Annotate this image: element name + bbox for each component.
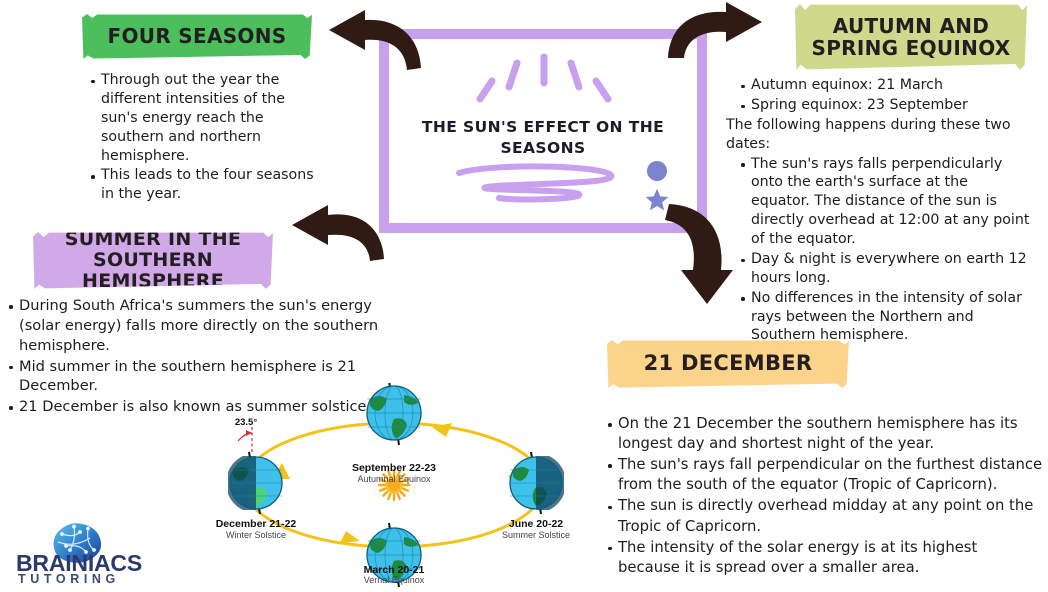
seasons-orbit-diagram: September 22-23 Autumnal Equinox June 20 — [216, 383, 572, 588]
list-item: This leads to the four seasons in the ye… — [88, 166, 318, 204]
logo-tagline: TUTORING — [18, 572, 184, 586]
list-item: No differences in the intensity of solar… — [738, 289, 1030, 346]
text-equinox: Autumn equinox: 21 March Spring equinox:… — [726, 76, 1030, 346]
banner-equinox: AUTUMN AND SPRING EQUINOX — [795, 4, 1027, 70]
list-item: The intensity of the solar energy is at … — [605, 538, 1043, 578]
heading-summer-southern: SUMMER IN THE SOUTHERN HEMISPHERE — [33, 229, 273, 293]
list-item: The sun is directly overhead midday at a… — [605, 496, 1043, 536]
heading-december: 21 DECEMBER — [644, 352, 813, 376]
list-item: Autumn equinox: 21 March — [738, 76, 1030, 95]
orbit-svg: September 22-23 Autumnal Equinox June 20 — [216, 383, 572, 588]
list-december: On the 21 December the southern hemisphe… — [605, 414, 1043, 578]
list-four-seasons: Through out the year the different inten… — [88, 71, 318, 204]
tilt-angle-marker — [238, 427, 252, 452]
globe-december — [228, 452, 282, 514]
globe-september-event: Autumnal Equinox — [357, 474, 431, 484]
brand-logo: BRAINIACS TUTORING — [16, 524, 182, 584]
list-item: On the 21 December the southern hemisphe… — [605, 414, 1043, 454]
banner-december: 21 DECEMBER — [607, 340, 849, 388]
banner-summer-southern: SUMMER IN THE SOUTHERN HEMISPHERE — [33, 232, 273, 289]
globe-december-date: December 21-22 — [216, 518, 296, 530]
globe-december-event: Winter Solstice — [226, 530, 286, 540]
globe-september — [367, 383, 421, 445]
heading-four-seasons: FOUR SEASONS — [108, 25, 287, 47]
globe-march-event: Vernal Equinox — [364, 575, 425, 585]
list-item: Spring equinox: 23 September — [738, 96, 1030, 115]
globe-september-date: September 22-23 — [352, 462, 436, 474]
globe-june-date: June 20-22 — [509, 518, 563, 530]
banner-four-seasons: FOUR SEASONS — [82, 14, 312, 59]
arrow-to-equinox — [664, 0, 774, 62]
orbit-arrow-bottom — [340, 531, 360, 543]
decorative-dot-icon — [647, 161, 667, 181]
list-equinox-dates: Autumn equinox: 21 March Spring equinox:… — [726, 76, 1030, 115]
sunburst-icon — [459, 51, 629, 113]
list-item: Day & night is everywhere on earth 12 ho… — [738, 250, 1030, 288]
heading-equinox: AUTUMN AND SPRING EQUINOX — [795, 15, 1027, 60]
center-card-title: THE SUN'S EFFECT ON THE SEASONS — [389, 117, 697, 159]
infographic-canvas: FOUR SEASONS Through out the year the di… — [0, 0, 1048, 588]
tilt-angle-label: 23.5° — [235, 417, 257, 428]
equinox-intro: The following happens during these two d… — [726, 116, 1030, 154]
globe-june-event: Summer Solstice — [502, 530, 570, 540]
list-equinox-effects: The sun's rays falls perpendicularly ont… — [726, 155, 1030, 346]
text-december: On the 21 December the southern hemisphe… — [605, 414, 1043, 579]
arrow-to-four-seasons — [309, 6, 429, 78]
swirl-underline-icon — [451, 163, 631, 205]
arrow-to-december — [663, 198, 747, 310]
globe-june — [510, 452, 564, 514]
list-item: The sun's rays falls perpendicularly ont… — [738, 155, 1030, 249]
text-four-seasons: Through out the year the different inten… — [88, 71, 318, 205]
arrow-to-summer-southern — [280, 203, 392, 267]
list-item: The sun's rays fall perpendicular on the… — [605, 455, 1043, 495]
list-item: During South Africa's summers the sun's … — [6, 296, 388, 356]
list-item: Through out the year the different inten… — [88, 71, 318, 165]
